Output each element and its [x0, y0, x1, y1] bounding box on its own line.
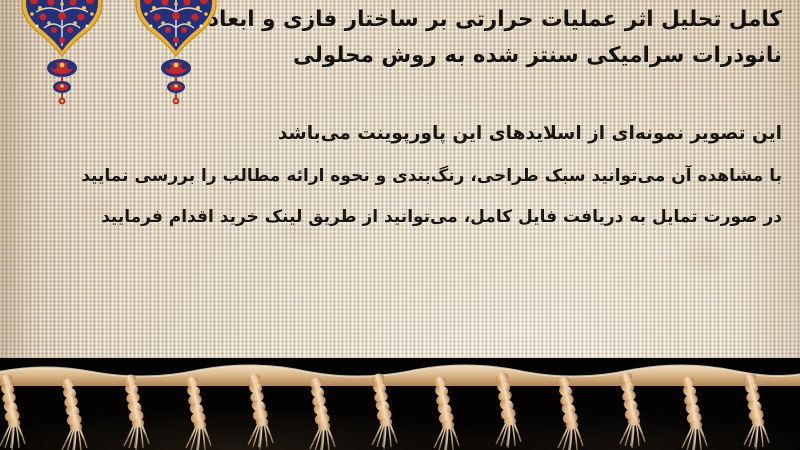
carpet-fringe — [0, 360, 800, 450]
fringe-tassel — [680, 375, 707, 450]
slide-canvas: کامل تحلیل اثر عملیات حرارتی بر ساختار ف… — [0, 0, 800, 450]
slide-title: کامل تحلیل اثر عملیات حرارتی بر ساختار ف… — [12, 2, 782, 74]
body-line-3: در صورت تمایل به دریافت فایل کامل، می‌تو… — [12, 196, 782, 238]
fringe-tassel — [432, 375, 459, 450]
title-line-2: نانوذرات سرامیکی سنتز شده به روش محلولی — [12, 38, 782, 74]
fringe-tassel — [184, 375, 211, 450]
body-line-2: با مشاهده آن می‌توانید سبک طراحی، رنگ‌بن… — [12, 156, 782, 196]
title-line-1: کامل تحلیل اثر عملیات حرارتی بر ساختار ف… — [12, 2, 782, 38]
fringe-tassel — [556, 375, 583, 450]
fringe-tassel — [308, 376, 335, 450]
text-layer: کامل تحلیل اثر عملیات حرارتی بر ساختار ف… — [0, 0, 800, 372]
slide-body: این تصویر نمونه‌ای از اسلایدهای این پاور… — [12, 112, 782, 238]
body-line-1: این تصویر نمونه‌ای از اسلایدهای این پاور… — [12, 112, 782, 156]
fringe-svg — [0, 360, 800, 450]
fringe-tassel — [60, 377, 87, 450]
